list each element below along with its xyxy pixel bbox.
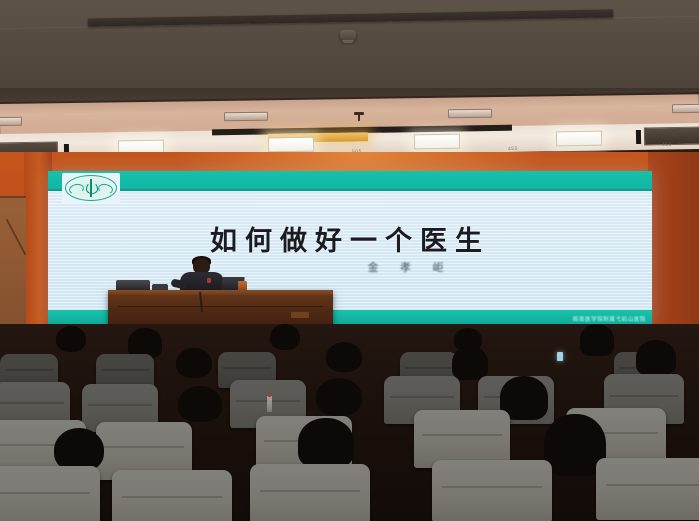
desk-top-edge [108, 290, 333, 295]
seat [432, 460, 552, 521]
slide-logo [62, 173, 120, 203]
slide-footer-text: 皖南医学院附属弋矶山医院 [573, 315, 646, 323]
sprinkler-head-icon [358, 112, 360, 121]
seat [596, 458, 699, 520]
audience-head [298, 418, 354, 468]
medical-college-emblem-icon [65, 175, 117, 201]
ceiling-vent-icon [672, 104, 699, 114]
audience-head [636, 340, 676, 376]
presenter-badge [207, 278, 211, 283]
ceiling-label: 455 [662, 142, 672, 148]
audience-area [0, 324, 699, 521]
desk-plate [291, 312, 309, 318]
slide-presenter-name: 金 孝 岠 [48, 259, 699, 275]
audience-head [178, 386, 222, 422]
panel-light-icon [268, 137, 314, 153]
audience-head [580, 324, 614, 356]
audience-head [56, 326, 86, 352]
ceiling-vent-icon [224, 112, 268, 122]
seat [112, 470, 232, 521]
slide-header-bar [48, 171, 652, 189]
emblem-wing-left-icon [68, 183, 85, 196]
audience-head [452, 346, 488, 380]
ceiling-vent-icon [448, 109, 492, 119]
emblem-wing-right-icon [97, 183, 114, 196]
audience-head [316, 378, 362, 416]
door-frame [0, 196, 26, 198]
vent-louver [636, 130, 641, 144]
panel-light-icon [414, 134, 460, 150]
audience-head [326, 342, 362, 372]
lecture-hall-photo: 525 535 505 455 455 如何做好一个医生 金 孝 岠 皖南医学院… [0, 0, 699, 521]
seat [0, 466, 100, 521]
ceiling-vent-icon [0, 117, 22, 127]
seat [250, 464, 370, 521]
water-bottle [267, 396, 272, 412]
audience-head [270, 324, 300, 350]
phone-screen-glow [557, 352, 563, 361]
audience-head [176, 348, 212, 378]
dome-speaker-icon [340, 30, 356, 41]
panel-light-icon [556, 131, 602, 147]
slide-title: 如何做好一个医生 [48, 219, 652, 258]
desk-panel-line [118, 306, 323, 307]
